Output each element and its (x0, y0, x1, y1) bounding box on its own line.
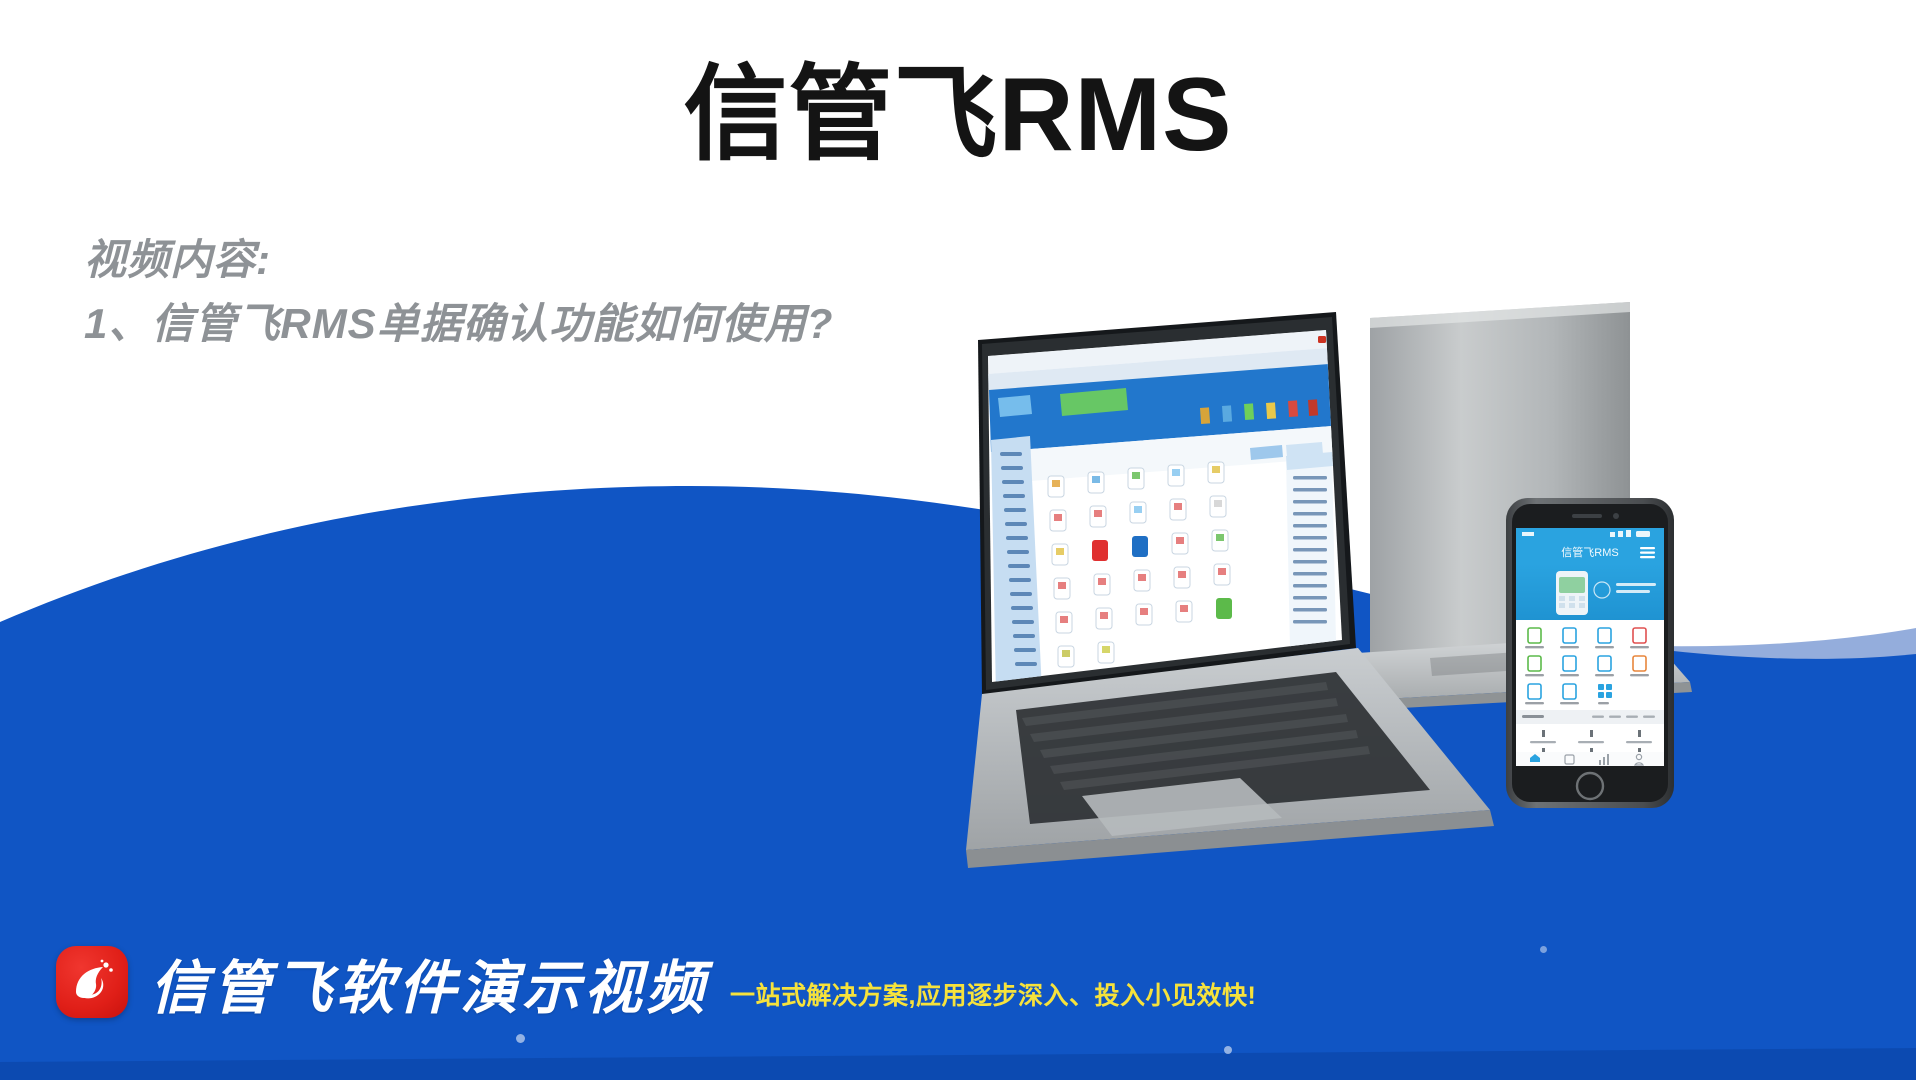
video-content-label: 视频内容: (84, 228, 984, 291)
presentation-slide: 信管飞RMS 视频内容: 1、信管飞RMS单据确认功能如何使用? (0, 0, 1916, 1080)
slide-title: 信管飞RMS (0, 56, 1916, 176)
decor-dot-1 (516, 1034, 525, 1043)
device-mockup-group: 信管飞RMS (730, 290, 1916, 960)
hamburger-menu-icon (1640, 547, 1655, 558)
svg-text:信管飞RMS: 信管飞RMS (1561, 545, 1618, 559)
laptop-screen-content (980, 326, 1350, 696)
decor-dot-3 (1540, 946, 1547, 953)
wave-bottom-band-shape (0, 1048, 1916, 1080)
brand-tagline: 一站式解决方案,应用逐步深入、投入小见效快! (730, 976, 1256, 1018)
xinguanfei-bird-logo-icon (56, 946, 128, 1018)
smartphone-front: 信管飞RMS (1506, 498, 1674, 808)
decor-dot-2 (1224, 1046, 1232, 1054)
footer-brand-bar: 信管飞软件演示视频 一站式解决方案,应用逐步深入、投入小见效快! (56, 946, 1256, 1018)
brand-name: 信管飞软件演示视频 (150, 960, 708, 1018)
